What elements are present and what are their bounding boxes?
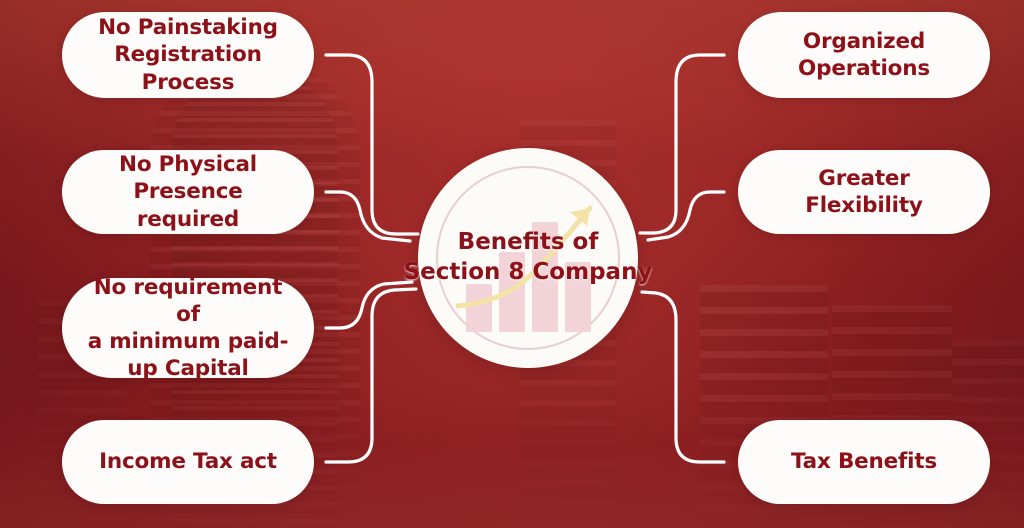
center-hub-circle[interactable]: Benefits of Section 8 Company bbox=[418, 148, 638, 368]
benefit-box-greater-flexibility[interactable]: Greater Flexibility bbox=[738, 150, 990, 234]
benefit-label: Greater Flexibility bbox=[756, 165, 972, 219]
benefit-box-no-physical-presence-required[interactable]: No Physical Presence required bbox=[62, 150, 314, 234]
benefit-box-organized-operations[interactable]: Organized Operations bbox=[738, 12, 990, 98]
benefit-label: No Physical Presence required bbox=[80, 151, 296, 232]
infographic-canvas: No Painstaking Registration Process No P… bbox=[0, 0, 1024, 528]
benefit-box-income-tax-act[interactable]: Income Tax act bbox=[62, 420, 314, 504]
benefit-label: No Painstaking Registration Process bbox=[80, 14, 296, 95]
benefit-box-no-painstaking-registration-process[interactable]: No Painstaking Registration Process bbox=[62, 12, 314, 98]
benefit-box-tax-benefits[interactable]: Tax Benefits bbox=[738, 420, 990, 504]
benefit-label: Organized Operations bbox=[798, 28, 930, 82]
benefit-label: No requirement of a minimum paid- up Cap… bbox=[80, 274, 296, 382]
benefit-box-no-minimum-paid-up-capital[interactable]: No requirement of a minimum paid- up Cap… bbox=[62, 278, 314, 378]
center-hub-label: Benefits of Section 8 Company bbox=[404, 228, 653, 288]
benefit-label: Tax Benefits bbox=[791, 448, 937, 475]
benefit-label: Income Tax act bbox=[99, 448, 277, 475]
